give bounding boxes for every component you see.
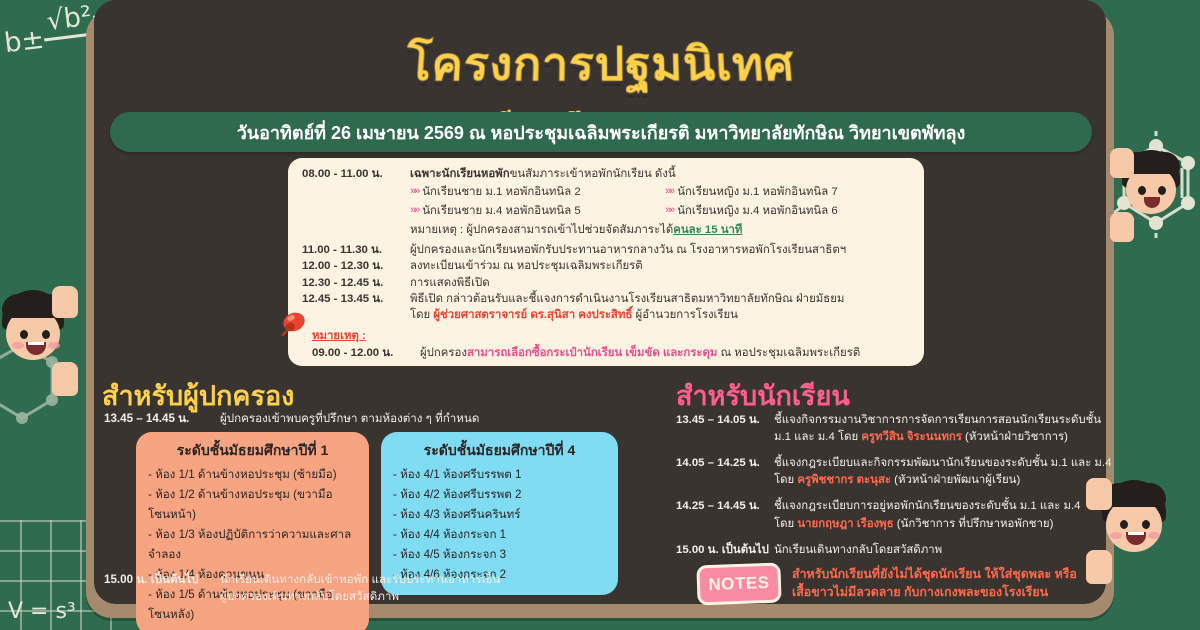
chevron-right-icon: »» <box>665 183 673 200</box>
chevron-right-icon: »» <box>410 183 418 200</box>
schedule-desc: การแสดงพิธีเปิด <box>410 275 912 291</box>
speaker-role: (นักวิชาการ ที่ปรึกษาหอพักชาย) <box>894 518 1054 530</box>
schedule-row-performance: 12.30 - 12.45 น. การแสดงพิธีเปิด <box>302 275 912 291</box>
chevron-right-icon: »» <box>410 202 418 219</box>
students-row-time: 14.05 – 14.25 น. <box>676 455 774 489</box>
list-item: - ห้อง 1/3 ห้องปฏิบัติการว่าความและศาลจำ… <box>148 525 357 565</box>
student-character-left <box>0 290 96 420</box>
dorm-bullet-text: นักเรียนหญิง ม.1 หอพักอินทนิล 7 <box>677 183 837 201</box>
students-row-time: 14.25 – 14.45 น. <box>676 498 774 532</box>
room-box-m4-title: ระดับชั้นมัธยมศึกษาปีที่ 4 <box>393 440 606 462</box>
schedule-note-block: หมายเหตุ : 09.00 - 12.00 น. ผู้ปกครองสาม… <box>312 327 912 361</box>
opening-by-suffix: ผู้อำนวยการโรงเรียน <box>632 309 738 321</box>
students-row-departure: 15.00 น. เป็นต้นไป นักเรียนเดินทางกลับโด… <box>676 542 1112 559</box>
students-row-time: 15.00 น. เป็นต้นไป <box>676 542 774 559</box>
students-row-desc: ชี้แจงกิจกรรมงานวิชาการการจัดการเรียนการ… <box>774 412 1112 446</box>
schedule-row-lunch: 11.00 - 11.30 น. ผู้ปกครองและนักเรียนหอพ… <box>302 242 912 258</box>
students-row-desc: ชี้แจงกฎระเบียบการอยู่หอพักนักเรียนของระ… <box>774 498 1112 532</box>
dorm-only-label: เฉพาะนักเรียนหอพัก <box>410 168 510 180</box>
schedule-time: 08.00 - 11.00 น. <box>302 166 410 182</box>
schedule-row-opening: 12.45 - 13.45 น. พิธีเปิด กล่าวต้อนรับแล… <box>302 291 912 323</box>
list-item: »» นักเรียนชาย ม.4 หอพักอินทนิล 5 <box>410 202 657 220</box>
parents-row-time: 13.45 – 14.45 น. <box>104 410 220 428</box>
students-row-desc: นักเรียนเดินทางกลับโดยสวัสดิภาพ <box>774 542 1112 559</box>
schedule-desc: ผู้ปกครองและนักเรียนหอพักรับประทานอาหารก… <box>410 242 912 258</box>
schedule-desc: เฉพาะนักเรียนหอพักขนสัมภาระเข้าหอพักนักเ… <box>410 166 912 182</box>
schedule-desc: พิธีเปิด กล่าวต้อนรับและชี้แจงการดำเนินง… <box>410 291 912 323</box>
students-rows: 13.45 – 14.05 น. ชี้แจงกิจกรรมงานวิชาการ… <box>676 412 1112 568</box>
dorm-remark-text: หมายเหตุ : ผู้ปกครองสามารถเข้าไปช่วยจัดส… <box>410 224 673 236</box>
note-time: 09.00 - 12.00 น. <box>312 345 420 361</box>
dorm-remark: หมายเหตุ : ผู้ปกครองสามารถเข้าไปช่วยจัดส… <box>410 221 912 239</box>
parents-row-desc: นักเรียนเดินทางกลับเข้าหอพัก และรับประทา… <box>220 571 500 606</box>
note-label: หมายเหตุ : <box>312 327 912 345</box>
dorm-bullet-text: นักเรียนชาย ม.1 หอพักอินทนิล 2 <box>422 183 580 201</box>
parents-row-desc: ผู้ปกครองเข้าพบครูที่ปรึกษา ตามห้องต่าง … <box>220 410 479 428</box>
schedule-desc: ลงทะเบียนเข้าร่วม ณ หอประชุมเฉลิมพระเกีย… <box>410 258 912 274</box>
students-desc-prefix: โดย <box>774 518 797 530</box>
list-item: »» นักเรียนหญิง ม.1 หอพักอินทนิล 7 <box>665 183 912 201</box>
note-prefix: ผู้ปกครอง <box>420 347 467 359</box>
speaker-name: ครูทวีสิน จิระนนทกร <box>861 431 962 443</box>
speaker-role: (หัวหน้าฝ่ายวิชาการ) <box>962 431 1068 443</box>
schedule-panel: 08.00 - 11.00 น. เฉพาะนักเรียนหอพักขนสัม… <box>288 158 924 366</box>
parents-departure-line1: นักเรียนเดินทางกลับเข้าหอพัก และรับประทา… <box>220 573 500 586</box>
page-title: โครงการปฐมนิเทศ <box>0 27 1200 101</box>
students-desc-line1: ชี้แจงกฎระเบียบและกิจกรรมพัฒนานักเรียนขอ… <box>774 457 1111 469</box>
infographic-poster: b±√b²-4ac2a A=πr² V = s³ <box>0 0 1200 630</box>
director-name: ผู้ช่วยศาสตราจารย์ ดร.สุนิสา คงประสิทธิ์ <box>433 309 632 321</box>
students-desc-prefix: ม.1 และ ม.4 โดย <box>774 431 861 443</box>
speaker-role: (หัวหน้าฝ่ายพัฒนาผู้เรียน) <box>891 474 1020 486</box>
opening-by-prefix: โดย <box>410 309 433 321</box>
list-item: - ห้อง 4/4 ห้องกระจก 1 <box>393 525 606 545</box>
dorm-desc-text: ขนสัมภาระเข้าหอพักนักเรียน ดังนี้ <box>510 168 676 180</box>
notes-badge: NOTES <box>699 566 778 603</box>
schedule-time: 11.00 - 11.30 น. <box>302 242 410 258</box>
students-row-dorm-rules: 14.25 – 14.45 น. ชี้แจงกฎระเบียบการอยู่ห… <box>676 498 1112 532</box>
list-item: - ห้อง 4/1 ห้องศรีบรรพต 1 <box>393 465 606 485</box>
schedule-row-note: 09.00 - 12.00 น. ผู้ปกครองสามารถเลือกซื้… <box>312 345 912 361</box>
opening-desc-text: พิธีเปิด กล่าวต้อนรับและชี้แจงการดำเนินง… <box>410 293 844 305</box>
list-item: - ห้อง 1/1 ด้านข้างหอประชุม (ซ้ายมือ) <box>148 465 357 485</box>
dorm-bullet-line-1: »» นักเรียนชาย ม.1 หอพักอินทนิล 2 »» นัก… <box>410 183 912 201</box>
students-section-heading: สำหรับนักเรียน <box>676 374 850 417</box>
list-item: - ห้อง 4/5 ห้องกระจก 3 <box>393 545 606 565</box>
students-row-academic: 13.45 – 14.05 น. ชี้แจงกิจกรรมงานวิชาการ… <box>676 412 1112 446</box>
parents-departure-line2: ผู้ปกครองเดินทางกลับโดยสวัสดิภาพ <box>220 590 399 603</box>
chevron-right-icon: »» <box>665 202 673 219</box>
pushpin-icon <box>276 310 306 344</box>
speaker-name: ครูพิชชากร ตะนุสะ <box>797 474 891 486</box>
students-row-rules: 14.05 – 14.25 น. ชี้แจงกฎระเบียบและกิจกร… <box>676 455 1112 489</box>
notes-badge-label: NOTES <box>708 573 770 595</box>
students-desc-line1: ชี้แจงกฎระเบียบการอยู่หอพักนักเรียนของระ… <box>774 500 1080 512</box>
notes-line-1: สำหรับนักเรียนที่ยังไม่ได้ชุดนักเรียน ให… <box>792 567 1077 581</box>
notes-block: NOTES สำหรับนักเรียนที่ยังไม่ได้ชุดนักเร… <box>700 566 1112 602</box>
dorm-remark-highlight: คนละ 15 นาที <box>673 224 742 236</box>
list-item: »» นักเรียนชาย ม.1 หอพักอินทนิล 2 <box>410 183 657 201</box>
students-desc-line1: ชี้แจงกิจกรรมงานวิชาการการจัดการเรียนการ… <box>774 414 1101 426</box>
schedule-row-dorm: 08.00 - 11.00 น. เฉพาะนักเรียนหอพักขนสัม… <box>302 166 912 182</box>
notes-line-2: เสื้อขาวไม่มีลวดลาย กับกางเกงพละของโรงเร… <box>792 585 1048 599</box>
venue-banner-text: วันอาทิตย์ที่ 26 เมษายน 2569 ณ หอประชุมเ… <box>237 118 966 147</box>
dorm-bullet-text: นักเรียนชาย ม.4 หอพักอินทนิล 5 <box>422 202 580 220</box>
speaker-name: นายกฤษฎา เรืองพุธ <box>797 518 893 530</box>
room-box-m1-title: ระดับชั้นมัธยมศึกษาปีที่ 1 <box>148 440 357 462</box>
list-item: - ห้อง 4/3 ห้องศรีนครินทร์ <box>393 505 606 525</box>
students-desc-prefix: โดย <box>774 474 797 486</box>
dorm-bullet-text: นักเรียนหญิง ม.4 หอพักอินทนิล 6 <box>677 202 837 220</box>
parents-row-time: 15.00 น. เป็นต้นไป <box>104 571 220 606</box>
note-desc: ผู้ปกครองสามารถเลือกซื้อกระเป๋านักเรียน … <box>420 345 912 361</box>
schedule-time: 12.45 - 13.45 น. <box>302 291 410 323</box>
students-row-desc: ชี้แจงกฎระเบียบและกิจกรรมพัฒนานักเรียนขอ… <box>774 455 1112 489</box>
schedule-time: 12.00 - 12.30 น. <box>302 258 410 274</box>
schedule-time: 12.30 - 12.45 น. <box>302 275 410 291</box>
list-item: - ห้อง 1/2 ด้านข้างหอประชุม (ขวามือ โซนห… <box>148 485 357 525</box>
parents-row-departure: 15.00 น. เป็นต้นไป นักเรียนเดินทางกลับเข… <box>104 571 644 606</box>
dorm-bullet-line-2: »» นักเรียนชาย ม.4 หอพักอินทนิล 5 »» นัก… <box>410 202 912 220</box>
parents-row-meeting: 13.45 – 14.45 น. ผู้ปกครองเข้าพบครูที่ปร… <box>104 410 644 428</box>
list-item: »» นักเรียนหญิง ม.4 หอพักอินทนิล 6 <box>665 202 912 220</box>
students-row-time: 13.45 – 14.05 น. <box>676 412 774 446</box>
venue-banner: วันอาทิตย์ที่ 26 เมษายน 2569 ณ หอประชุมเ… <box>110 112 1092 152</box>
note-suffix: ณ หอประชุมเฉลิมพระเกียรติ <box>717 347 860 359</box>
note-highlight: สามารถเลือกซื้อกระเป๋านักเรียน เข็มขัด แ… <box>467 347 717 359</box>
student-character-right-top <box>1112 150 1198 260</box>
notes-text: สำหรับนักเรียนที่ยังไม่ได้ชุดนักเรียน ให… <box>792 566 1077 602</box>
schedule-row-register: 12.00 - 12.30 น. ลงทะเบียนเข้าร่วม ณ หอป… <box>302 258 912 274</box>
room-box-m4-list: - ห้อง 4/1 ห้องศรีบรรพต 1 - ห้อง 4/2 ห้อ… <box>393 465 606 585</box>
list-item: - ห้อง 4/2 ห้องศรีบรรพต 2 <box>393 485 606 505</box>
